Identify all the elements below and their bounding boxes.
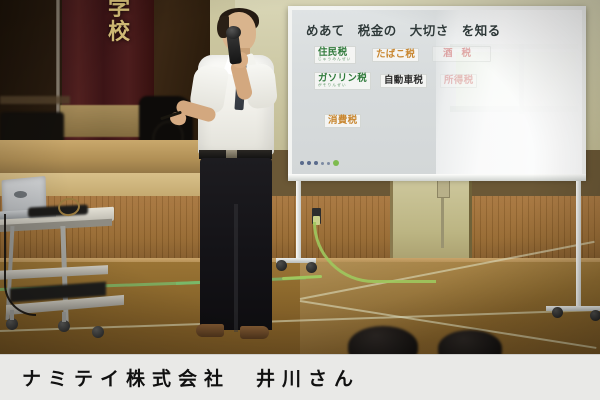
- tax-card-label: 消費税: [328, 115, 357, 126]
- magnet-strip: [300, 160, 339, 166]
- whiteboard: めあて 税金の 大切さ を知る 住民税 じゅうみんぜい たばこ税 酒税 ガソリン…: [288, 6, 586, 178]
- whiteboard-caster: [276, 260, 287, 271]
- tax-card-tabakozei: たばこ税: [372, 48, 419, 62]
- magnet: [307, 161, 311, 165]
- table-caster: [92, 326, 104, 338]
- tax-card-furigana: じゅうみんぜい: [318, 58, 352, 62]
- whiteboard-caster: [552, 307, 563, 318]
- tax-card-gasorinzei: ガソリン税 がそりんぜい: [314, 72, 371, 90]
- window-mullion-reflection: [519, 44, 524, 114]
- tax-card-label: 自動車税: [384, 75, 423, 86]
- presenter-shoe-left: [196, 324, 224, 337]
- tax-card-jidoshazei: 自動車税: [380, 74, 427, 88]
- tax-card-label: たばこ税: [376, 49, 415, 60]
- magnet: [321, 162, 324, 165]
- tax-card-label: 所得税: [444, 75, 473, 86]
- tax-card-shotokuzei: 所得税: [440, 74, 477, 88]
- whiteboard-leg: [296, 181, 301, 261]
- magnet-green: [333, 160, 339, 166]
- caption-text: ナミテイ株式会社 井川さん: [22, 364, 360, 391]
- corridor-wall-box: [437, 180, 450, 198]
- tax-card-furigana: がそりんぜい: [318, 84, 367, 88]
- presenter: [170, 8, 300, 348]
- table-caster-stem: [10, 310, 14, 320]
- plaque-char-1: 学: [108, 0, 130, 20]
- whiteboard-caster: [306, 262, 317, 273]
- tax-card-juminzei: 住民税 じゅうみんぜい: [314, 46, 356, 64]
- tax-card-label: 酒税: [443, 48, 480, 59]
- board-heading: めあて 税金の 大切さ を知る: [306, 20, 501, 39]
- tax-card-shuzei: 酒税: [432, 46, 491, 62]
- school-plaque: 学 校: [96, 0, 142, 70]
- table-caster-stem: [62, 312, 66, 322]
- whiteboard-pen-tray: [288, 174, 586, 181]
- magnet: [314, 161, 318, 165]
- magnet: [327, 162, 330, 165]
- window-frame-reflection: [450, 106, 578, 112]
- caption-bar: ナミテイ株式会社 井川さん: [0, 354, 600, 400]
- stage-beam: [0, 96, 70, 104]
- presenter-trouser-seam: [234, 204, 238, 332]
- laptop-logo: [14, 191, 27, 198]
- tax-card-shohizei: 消費税: [324, 114, 361, 128]
- scene: 学 校: [0, 0, 600, 400]
- whiteboard-caster: [590, 310, 600, 321]
- plaque-char-2: 校: [108, 22, 130, 44]
- whiteboard-leg: [576, 181, 581, 309]
- microphone-cable: [4, 214, 36, 316]
- magnet: [300, 161, 304, 165]
- presenter-shoe-right: [240, 326, 269, 339]
- photograph: 学 校: [0, 0, 600, 400]
